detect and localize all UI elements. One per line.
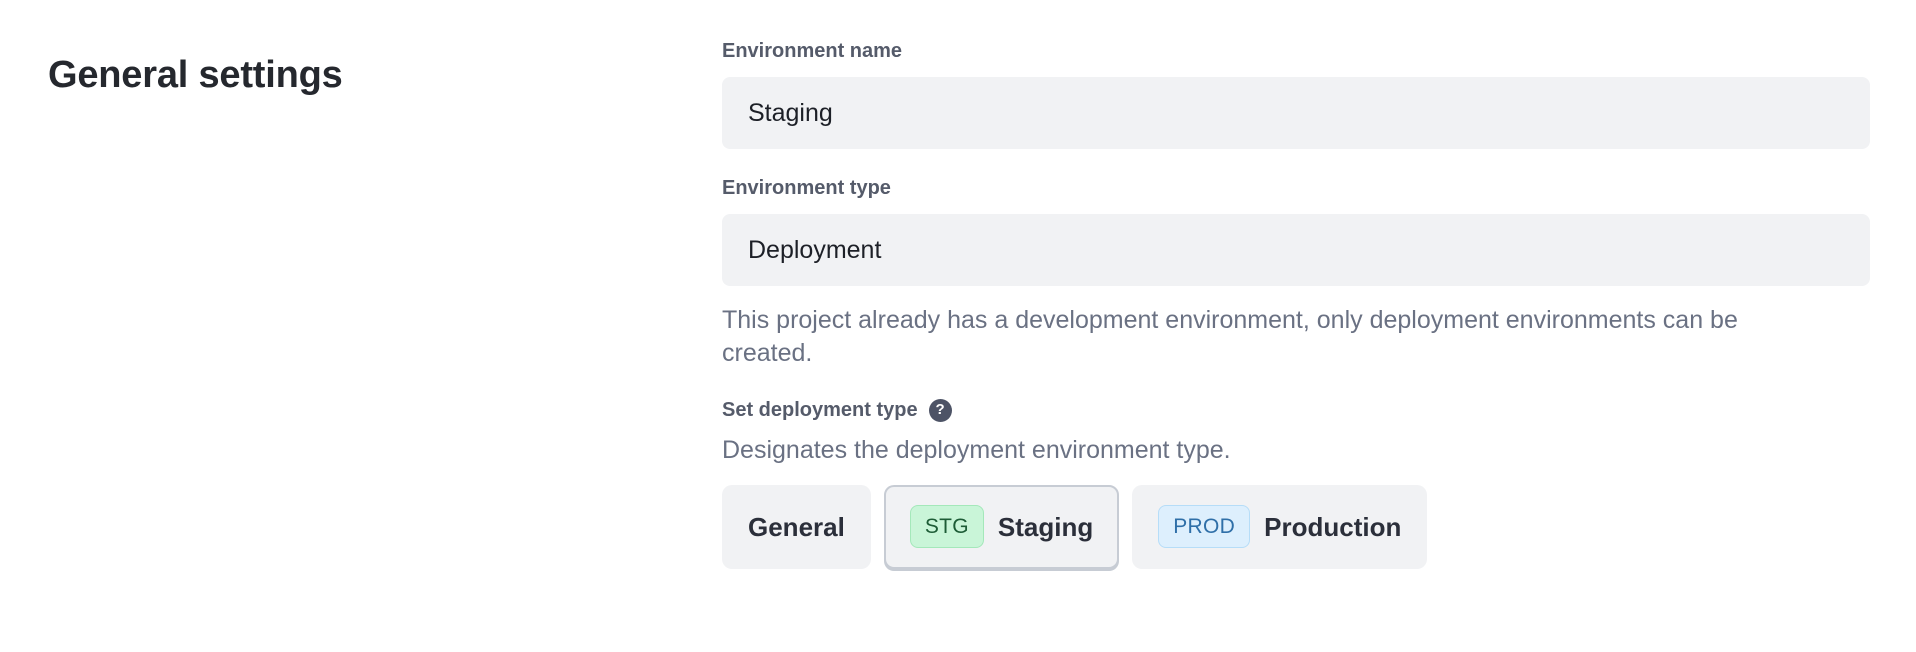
page-title: General settings [48, 53, 343, 99]
deployment-type-label: Set deployment type [722, 398, 918, 422]
settings-form: Environment name Environment type This p… [722, 38, 1870, 569]
deployment-type-option-label: General [748, 514, 845, 540]
environment-type-label: Environment type [722, 175, 1870, 202]
deployment-type-label-row: Set deployment type ? [722, 398, 1870, 422]
environment-name-label: Environment name [722, 38, 1870, 65]
environment-type-field-block: Environment type This project already ha… [722, 175, 1870, 370]
deployment-type-description: Designates the deployment environment ty… [722, 434, 1870, 467]
environment-type-helper-text: This project already has a development e… [722, 304, 1832, 370]
deployment-type-option-staging[interactable]: STG Staging [884, 485, 1119, 569]
help-circle-icon[interactable]: ? [929, 399, 952, 422]
deployment-type-option-label: Staging [998, 514, 1093, 540]
staging-badge: STG [910, 505, 984, 548]
deployment-type-option-production[interactable]: PROD Production [1132, 485, 1427, 569]
environment-name-input[interactable] [722, 77, 1870, 149]
deployment-type-option-general[interactable]: General [722, 485, 871, 569]
general-settings-page: General settings Environment name Enviro… [0, 0, 1916, 652]
deployment-type-button-group: General STG Staging PROD Production [722, 485, 1870, 569]
production-badge: PROD [1158, 505, 1250, 548]
environment-name-field-block: Environment name [722, 38, 1870, 149]
deployment-type-option-label: Production [1264, 514, 1401, 540]
environment-type-input[interactable] [722, 214, 1870, 286]
deployment-type-section: Set deployment type ? Designates the dep… [722, 398, 1870, 569]
